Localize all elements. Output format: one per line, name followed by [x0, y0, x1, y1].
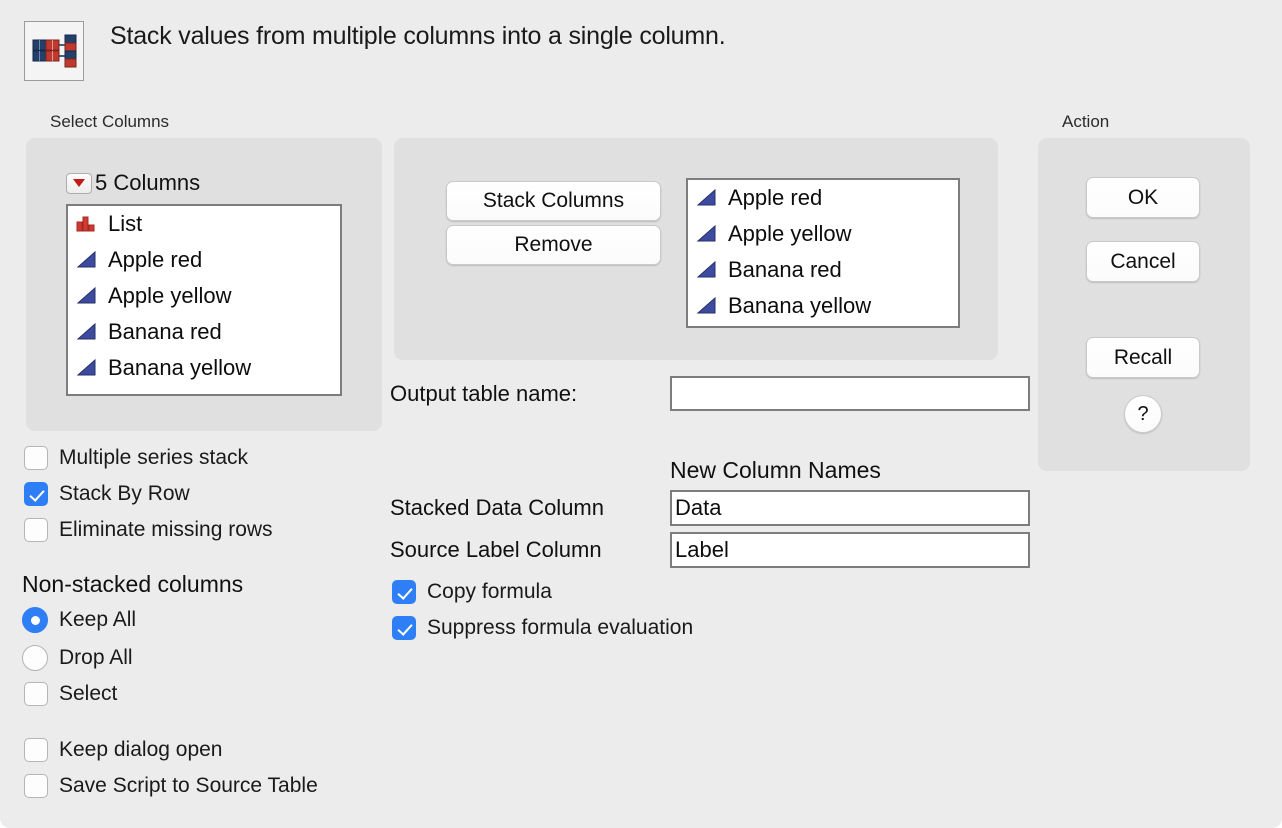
checkbox-box: [392, 580, 416, 604]
list-item[interactable]: Apple red: [68, 242, 340, 278]
checkbox-label: Stack By Row: [59, 482, 190, 506]
checkbox-box: [24, 518, 48, 542]
checkbox-label: Suppress formula evaluation: [427, 616, 693, 640]
list-item-label: Apple yellow: [728, 221, 852, 247]
multiple-series-stack-checkbox[interactable]: Multiple series stack: [24, 443, 248, 473]
radio-circle: [22, 645, 48, 671]
remove-button[interactable]: Remove: [446, 225, 661, 265]
stacked-data-column-label: Stacked Data Column: [390, 495, 604, 521]
list-item[interactable]: Banana red: [68, 314, 340, 350]
continuous-triangle-icon: [75, 321, 99, 343]
checkbox-box: [24, 682, 48, 706]
drop-all-radio[interactable]: Drop All: [22, 643, 133, 673]
list-item-label: Banana yellow: [728, 293, 871, 319]
radio-circle: [22, 607, 48, 633]
stack-dialog-window: Stack values from multiple columns into …: [0, 0, 1282, 828]
list-item[interactable]: Banana yellow: [68, 350, 340, 386]
select-checkbox[interactable]: Select: [24, 679, 117, 709]
action-caption: Action: [1062, 112, 1109, 132]
checkbox-label: Eliminate missing rows: [59, 518, 273, 542]
cancel-button[interactable]: Cancel: [1086, 241, 1200, 282]
checkbox-box: [24, 738, 48, 762]
suppress-formula-evaluation-checkbox[interactable]: Suppress formula evaluation: [392, 613, 693, 643]
triangle-down-icon[interactable]: [66, 173, 92, 194]
continuous-triangle-icon: [695, 223, 719, 245]
checkbox-box: [24, 774, 48, 798]
recall-button[interactable]: Recall: [1086, 337, 1200, 378]
checkbox-box: [392, 616, 416, 640]
continuous-triangle-icon: [75, 357, 99, 379]
list-item[interactable]: Banana yellow: [688, 288, 958, 324]
checkbox-box: [24, 446, 48, 470]
list-item-label: Banana red: [108, 319, 222, 345]
stacked-columns-listbox[interactable]: Apple red Apple yellow Banana red: [686, 178, 960, 328]
page-title: Stack values from multiple columns into …: [110, 22, 725, 51]
column-count-row[interactable]: 5 Columns: [66, 170, 200, 196]
continuous-triangle-icon: [695, 259, 719, 281]
source-label-column-label: Source Label Column: [390, 537, 602, 563]
continuous-triangle-icon: [695, 295, 719, 317]
dialog-header: Stack values from multiple columns into …: [0, 0, 1282, 98]
list-item-label: List: [108, 211, 142, 237]
select-columns-caption: Select Columns: [50, 112, 169, 132]
list-item-label: Apple yellow: [108, 283, 232, 309]
stack-columns-button[interactable]: Stack Columns: [446, 181, 661, 221]
select-columns-panel: 5 Columns List App: [26, 138, 382, 431]
help-button[interactable]: ?: [1124, 395, 1162, 433]
list-item-label: Banana yellow: [108, 355, 251, 381]
output-table-name-label: Output table name:: [390, 381, 577, 407]
continuous-triangle-icon: [75, 285, 99, 307]
list-item[interactable]: Banana red: [688, 252, 958, 288]
list-item-label: Banana red: [728, 257, 842, 283]
checkbox-label: Keep dialog open: [59, 738, 222, 762]
stack-by-row-checkbox[interactable]: Stack By Row: [24, 479, 190, 509]
action-panel: OK Cancel Recall ?: [1038, 138, 1250, 471]
stack-columns-panel: Stack Columns Remove Apple red Apple yel…: [394, 138, 998, 360]
checkbox-label: Multiple series stack: [59, 446, 248, 470]
source-columns-listbox[interactable]: List Apple red Apple yellow: [66, 204, 342, 396]
checkbox-label: Save Script to Source Table: [59, 774, 318, 798]
list-item[interactable]: Apple yellow: [68, 278, 340, 314]
checkbox-label: Select: [59, 682, 117, 706]
nominal-bars-icon: [75, 213, 99, 235]
output-table-name-input[interactable]: [670, 376, 1030, 411]
stack-columns-icon: [24, 21, 84, 81]
list-item[interactable]: Apple red: [688, 180, 958, 216]
list-item[interactable]: Apple yellow: [688, 216, 958, 252]
radio-label: Keep All: [59, 608, 136, 632]
keep-all-radio[interactable]: Keep All: [22, 605, 136, 635]
non-stacked-columns-heading: Non-stacked columns: [22, 571, 243, 598]
stacked-data-column-input[interactable]: [670, 490, 1030, 526]
radio-label: Drop All: [59, 646, 133, 670]
save-script-to-source-table-checkbox[interactable]: Save Script to Source Table: [24, 771, 318, 801]
keep-dialog-open-checkbox[interactable]: Keep dialog open: [24, 735, 222, 765]
continuous-triangle-icon: [75, 249, 99, 271]
continuous-triangle-icon: [695, 187, 719, 209]
column-count-label: 5 Columns: [95, 172, 200, 194]
new-column-names-header: New Column Names: [670, 457, 881, 484]
list-item[interactable]: List: [68, 206, 340, 242]
eliminate-missing-rows-checkbox[interactable]: Eliminate missing rows: [24, 515, 273, 545]
list-item-label: Apple red: [728, 185, 822, 211]
checkbox-box: [24, 482, 48, 506]
list-item-label: Apple red: [108, 247, 202, 273]
copy-formula-checkbox[interactable]: Copy formula: [392, 577, 552, 607]
checkbox-label: Copy formula: [427, 580, 552, 604]
ok-button[interactable]: OK: [1086, 177, 1200, 218]
source-label-column-input[interactable]: [670, 532, 1030, 568]
